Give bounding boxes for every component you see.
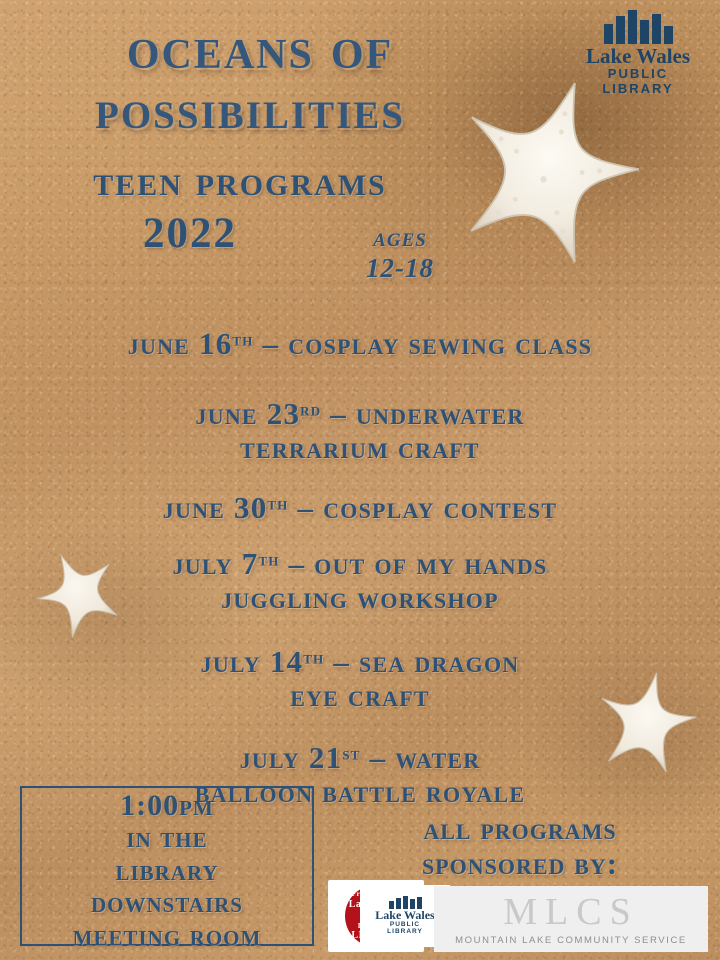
event-2-date: June 23 [196,396,301,431]
event-1-suffix: th [232,329,253,350]
poster-canvas: Lake Wales PUBLIC LIBRARY Oceans of Poss… [0,0,720,960]
event-5-suffix: th [303,647,324,668]
event-6-suffix: st [342,743,360,764]
mlcs-sponsor-logo: MLCS MOUNTAIN LAKE COMMUNITY SERVICE [434,886,708,952]
library-logo-library: LIBRARY [574,82,702,97]
library-logo-public: PUBLIC [574,67,702,82]
event-5-title: – Sea Dragon Eye Craft [290,644,519,714]
event-line-1: June 16th – Cosplay Sewing Class [0,292,720,361]
library-building-icon [574,10,702,44]
event-1-date: June 16 [128,326,233,361]
event-line-4: July 7th – Out of My Hands Juggling Work… [0,512,720,616]
location-details: 1:00pm In the Library Downstairs Meeting… [20,790,314,952]
event-line-2: June 23rd – Underwater Terrarium Craft [0,362,720,466]
event-6-date: July 21 [240,740,343,775]
event-line-5: July 14th – Sea Dragon Eye Craft [0,610,720,714]
mlcs-logo-caption: MOUNTAIN LAKE COMMUNITY SERVICE [455,935,687,946]
event-2-suffix: rd [300,399,321,420]
poster-year: 2022 [60,212,320,255]
poster-ages: Ages 12-18 [300,222,500,284]
mlcs-logo-mark: MLCS [503,893,638,931]
event-1-title: – Cosplay Sewing Class [254,326,593,361]
event-3-suffix: th [267,493,288,514]
poster-subtitle: Teen Programs [0,160,480,203]
poster-title-line-2: Possibilities [0,82,500,138]
library-logo-name: Lake Wales [574,46,702,67]
poster-title-line-1: Oceans of [0,18,520,78]
event-4-date: July 7 [173,546,259,581]
lake-wales-public-library-logo: Lake Wales PUBLIC LIBRARY [574,10,702,114]
event-5-date: July 14 [201,644,304,679]
lwpl-logo-library: LIBRARY [387,929,423,936]
sponsor-heading: All Programs Sponsored by: [330,812,710,881]
event-4-suffix: th [258,549,279,570]
